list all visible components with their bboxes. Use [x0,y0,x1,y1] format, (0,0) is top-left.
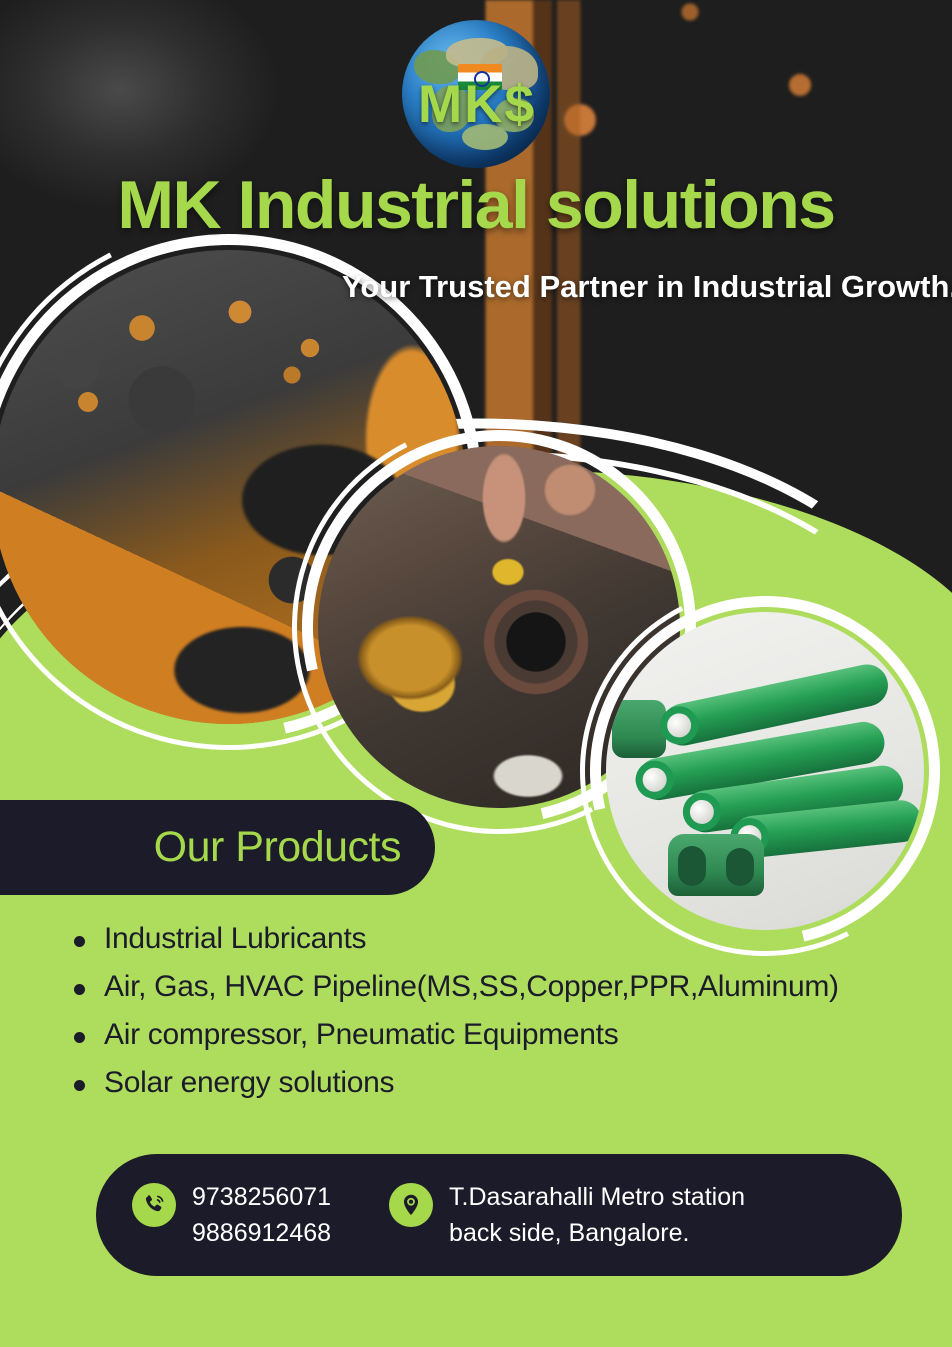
list-item: Air compressor, Pneumatic Equipments [62,1018,942,1052]
list-item: Air, Gas, HVAC Pipeline(MS,SS,Copper,PPR… [62,970,942,1004]
contact-phone-block[interactable]: 9738256071 9886912468 [132,1179,331,1252]
ppr-pipes-photo [606,612,924,930]
phone-number-1: 9738256071 [192,1179,331,1215]
logo-text: MK$ [392,74,562,135]
contact-bar: 9738256071 9886912468 T.Dasarahalli Metr… [96,1154,902,1276]
company-logo: MK$ [392,12,562,172]
our-products-label: Our Products [154,823,401,872]
pipes-photo-image [606,612,924,930]
page-title: MK Industrial solutions [0,171,952,239]
pipe-socket-fitting [612,700,666,758]
phone-number-2: 9886912468 [192,1215,331,1251]
address-line-1: T.Dasarahalli Metro station [449,1179,745,1215]
list-item: Industrial Lubricants [62,922,942,956]
pipe-elbow-fitting [668,834,764,896]
list-item: Solar energy solutions [62,1066,942,1100]
poster-canvas: MK$ MK Industrial solutions Your Trusted… [0,0,952,1347]
tagline: Your Trusted Partner in Industrial Growt… [300,265,952,310]
product-list: Industrial Lubricants Air, Gas, HVAC Pip… [62,922,942,1114]
location-pin-icon [389,1183,433,1227]
pipes-photo-clip [606,612,924,930]
phone-icon [132,1183,176,1227]
contact-address-block[interactable]: T.Dasarahalli Metro station back side, B… [389,1179,745,1252]
our-products-banner: Our Products [0,800,435,895]
phone-numbers: 9738256071 9886912468 [192,1179,331,1252]
address-text: T.Dasarahalli Metro station back side, B… [449,1179,745,1252]
address-line-2: back side, Bangalore. [449,1215,745,1251]
